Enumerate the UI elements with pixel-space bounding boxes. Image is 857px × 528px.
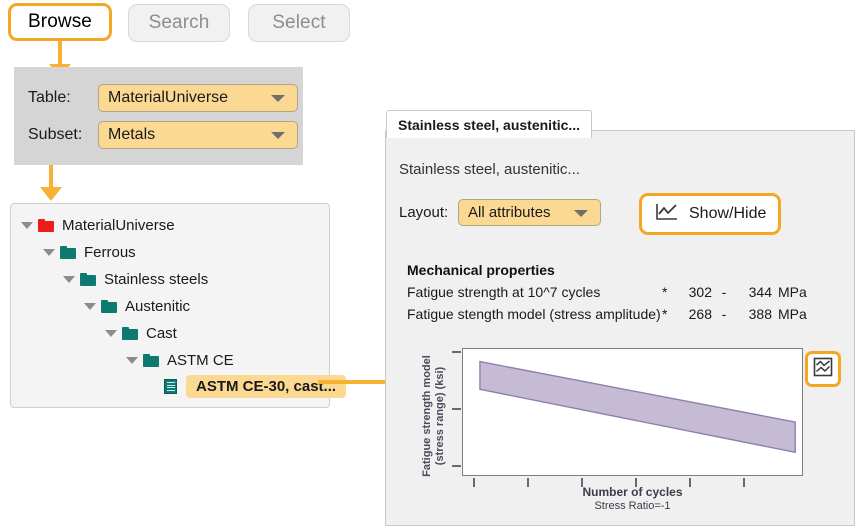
subset-label: Subset: bbox=[28, 126, 98, 144]
mode-button-search[interactable]: Search bbox=[128, 4, 230, 42]
tree-item-astm-ce-30-cast[interactable]: ASTM CE-30, cast... bbox=[147, 375, 346, 398]
mode-button-browse[interactable]: Browse bbox=[8, 3, 112, 41]
chart-band-series bbox=[463, 349, 802, 475]
tree-item-label: Cast bbox=[146, 325, 177, 342]
chart-y-tick bbox=[452, 351, 461, 353]
mode-button-search-label: Search bbox=[149, 12, 210, 34]
mode-button-select-label: Select bbox=[272, 12, 325, 34]
selector-panel: Table: MaterialUniverse Subset: Metals bbox=[14, 67, 303, 165]
record-subtitle: Stainless steel, austenitic... bbox=[399, 161, 580, 178]
folder-red-icon bbox=[38, 219, 54, 232]
tree-item-materialuniverse[interactable]: MaterialUniverse bbox=[21, 214, 175, 237]
property-range-dash: - bbox=[712, 284, 736, 300]
property-estimate-marker: * bbox=[662, 284, 676, 300]
property-min-value: 268 bbox=[676, 306, 712, 322]
chevron-down-icon bbox=[271, 95, 285, 102]
record-subtitle-text: Stainless steel, austenitic... bbox=[399, 161, 580, 178]
chevron-expanded-icon[interactable] bbox=[105, 330, 117, 337]
property-max-value: 388 bbox=[736, 306, 772, 322]
property-max-value: 344 bbox=[736, 284, 772, 300]
layout-label: Layout: bbox=[399, 204, 458, 221]
mode-button-browse-label: Browse bbox=[28, 11, 92, 33]
chevron-down-icon bbox=[271, 132, 285, 139]
chevron-expanded-icon[interactable] bbox=[84, 303, 96, 310]
table-dropdown-value: MaterialUniverse bbox=[108, 89, 228, 107]
folder-teal-icon bbox=[60, 246, 76, 259]
chart-plot-area bbox=[462, 348, 803, 476]
layout-dropdown-value: All attributes bbox=[468, 204, 551, 221]
subset-dropdown[interactable]: Metals bbox=[98, 121, 298, 149]
tree-item-austenitic[interactable]: Austenitic bbox=[84, 295, 190, 318]
arrow-selector-to-tree-head bbox=[40, 187, 62, 201]
table-label: Table: bbox=[28, 89, 98, 107]
folder-teal-icon bbox=[122, 327, 138, 340]
property-unit: MPa bbox=[772, 306, 807, 322]
chevron-expanded-icon[interactable] bbox=[43, 249, 55, 256]
record-icon bbox=[164, 379, 177, 394]
chart-toggle-icon bbox=[813, 357, 833, 382]
tree-item-label: MaterialUniverse bbox=[62, 217, 175, 234]
app-root: Browse Search Select Table: MaterialUniv… bbox=[0, 0, 857, 528]
fatigue-chart: Fatigue strength model (stress range) (k… bbox=[407, 345, 803, 515]
chart-x-axis-label: Number of cycles bbox=[462, 485, 803, 499]
table-dropdown[interactable]: MaterialUniverse bbox=[98, 84, 298, 112]
layout-row: Layout: All attributes bbox=[399, 199, 601, 226]
chart-y-tick bbox=[452, 408, 461, 410]
folder-teal-icon bbox=[143, 354, 159, 367]
show-hide-button[interactable]: Show/Hide bbox=[639, 193, 781, 235]
property-range-dash: - bbox=[712, 306, 736, 322]
chart-x-axis-sublabel: Stress Ratio=-1 bbox=[462, 500, 803, 512]
table-row: Table: MaterialUniverse bbox=[28, 84, 298, 112]
chevron-down-icon bbox=[574, 210, 588, 217]
subset-row: Subset: Metals bbox=[28, 121, 298, 149]
tree-item-stainless-steels[interactable]: Stainless steels bbox=[63, 268, 208, 291]
folder-teal-icon bbox=[80, 273, 96, 286]
layout-dropdown[interactable]: All attributes bbox=[458, 199, 601, 226]
chevron-expanded-icon[interactable] bbox=[126, 357, 138, 364]
chart-toggle-button[interactable] bbox=[805, 351, 841, 387]
property-row: Fatigue stength model (stress amplitude)… bbox=[407, 306, 837, 322]
properties-section: Mechanical properties Fatigue strength a… bbox=[407, 262, 837, 328]
property-name: Fatigue strength at 10^7 cycles bbox=[407, 284, 662, 300]
property-row: Fatigue strength at 10^7 cycles * 302 - … bbox=[407, 284, 837, 300]
tree-item-ferrous[interactable]: Ferrous bbox=[43, 241, 136, 264]
chart-y-axis-label: Fatigue strength model (stress range) (k… bbox=[421, 346, 447, 486]
mode-button-select[interactable]: Select bbox=[248, 4, 350, 42]
tree-item-astm-ce[interactable]: ASTM CE bbox=[126, 349, 234, 372]
tree-item-label: ASTM CE-30, cast... bbox=[186, 375, 346, 398]
tree-item-label: ASTM CE bbox=[167, 352, 234, 369]
folder-teal-icon bbox=[101, 300, 117, 313]
chevron-expanded-icon[interactable] bbox=[63, 276, 75, 283]
properties-heading: Mechanical properties bbox=[407, 262, 837, 278]
property-name: Fatigue stength model (stress amplitude) bbox=[407, 306, 662, 322]
property-estimate-marker: * bbox=[662, 306, 676, 322]
tree-item-label: Stainless steels bbox=[104, 271, 208, 288]
chevron-expanded-icon[interactable] bbox=[21, 222, 33, 229]
property-unit: MPa bbox=[772, 284, 807, 300]
panel-tab-stainless-steel[interactable]: Stainless steel, austenitic... bbox=[386, 110, 592, 138]
tree-item-label: Austenitic bbox=[125, 298, 190, 315]
panel-tab-label: Stainless steel, austenitic... bbox=[398, 117, 580, 133]
subset-dropdown-value: Metals bbox=[108, 126, 155, 144]
property-min-value: 302 bbox=[676, 284, 712, 300]
material-tree-panel[interactable]: MaterialUniverse Ferrous Stainless steel… bbox=[10, 203, 330, 408]
line-chart-icon bbox=[655, 202, 679, 227]
show-hide-button-label: Show/Hide bbox=[689, 205, 766, 223]
tree-item-cast[interactable]: Cast bbox=[105, 322, 177, 345]
tree-item-label: Ferrous bbox=[84, 244, 136, 261]
chart-y-tick bbox=[452, 465, 461, 467]
